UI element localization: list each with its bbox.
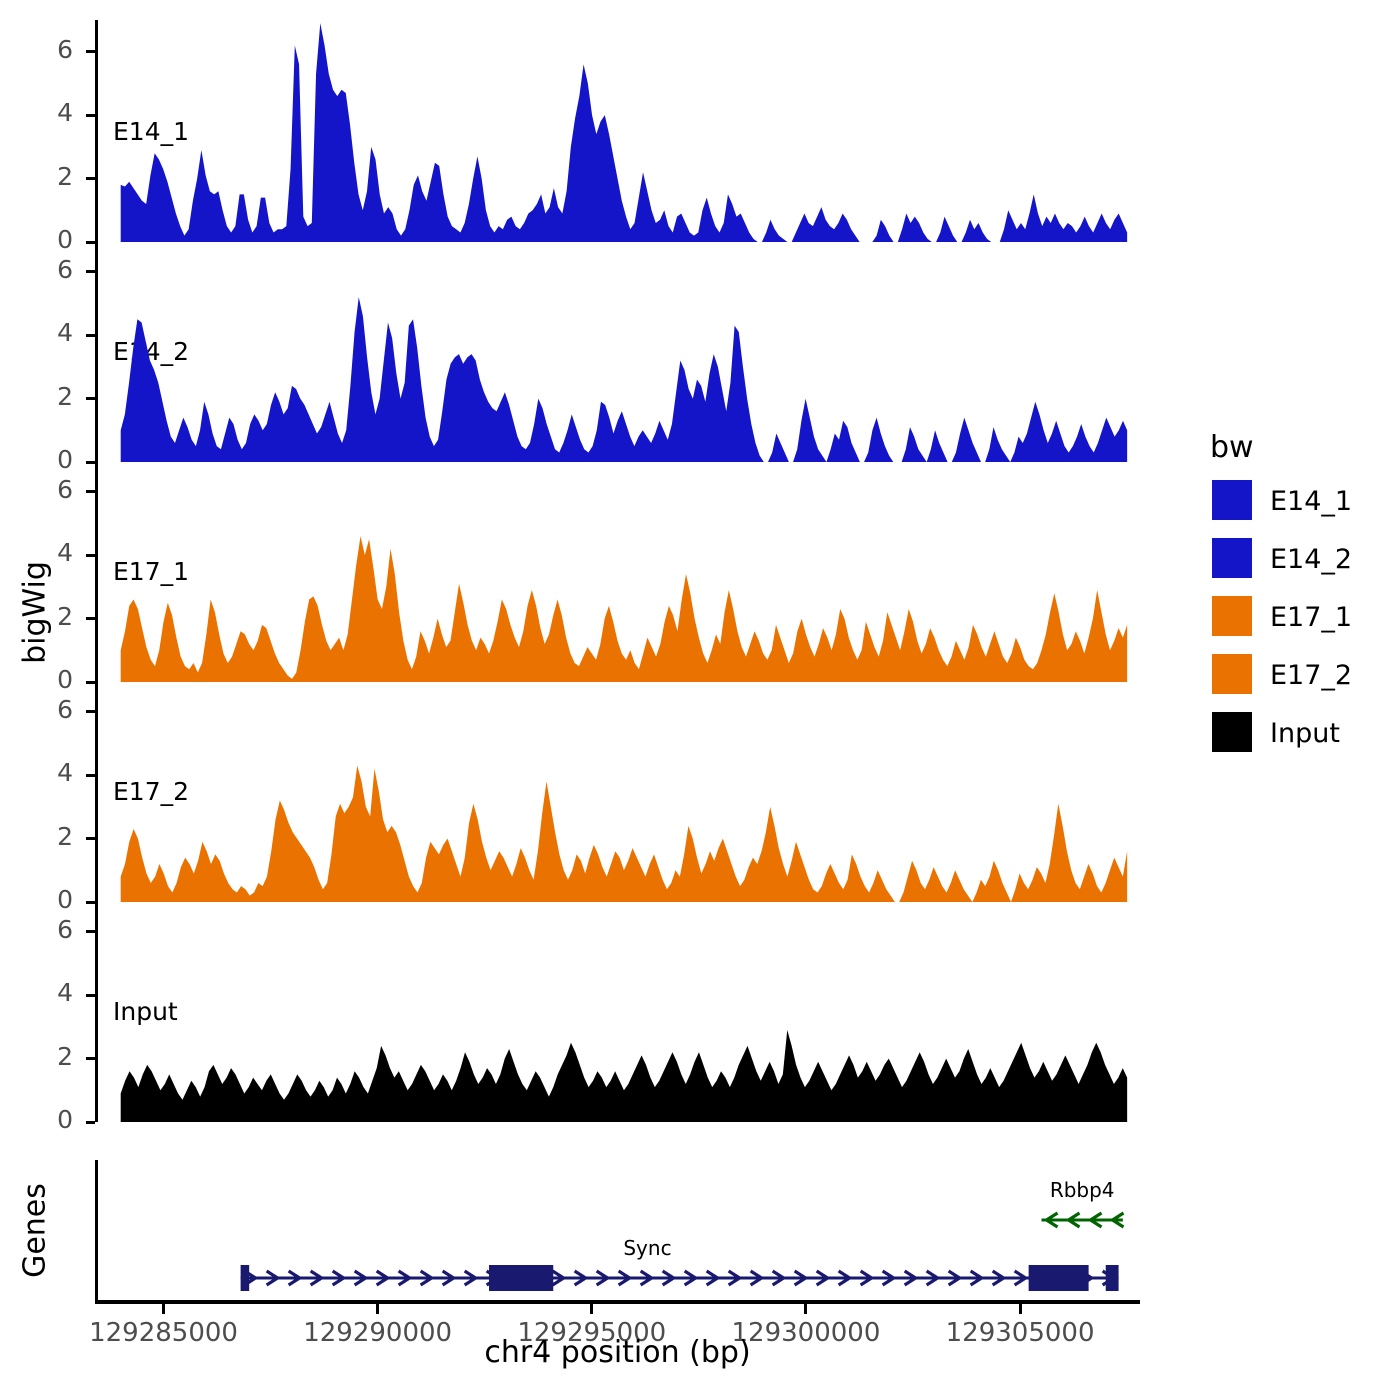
legend-label-input: Input	[1270, 718, 1340, 749]
y-tick-label: 6	[23, 915, 73, 944]
y-tick	[86, 241, 95, 244]
legend-label-e14_1: E14_1	[1270, 486, 1352, 517]
y-tick	[86, 710, 95, 713]
y-tick-label: 4	[23, 98, 73, 127]
y-tick	[86, 334, 95, 337]
y-tick	[86, 930, 95, 933]
y-tick	[86, 774, 95, 777]
x-tick	[162, 1304, 165, 1314]
legend-swatch-e17_2[interactable]	[1212, 654, 1252, 694]
y-tick-label: 0	[23, 1105, 73, 1134]
legend-label-e17_2: E17_2	[1270, 660, 1352, 691]
y-tick-label: 4	[23, 978, 73, 1007]
track-panel-e17_1: 0246E17_1	[95, 460, 1140, 682]
legend-label-e17_1: E17_1	[1270, 602, 1352, 633]
gene-label-rbbp4: Rbbp4	[1042, 1178, 1122, 1202]
y-tick-label: 6	[23, 35, 73, 64]
y-tick	[86, 114, 95, 117]
y-tick	[86, 617, 95, 620]
gene-model-rbbp4[interactable]	[95, 1160, 1140, 1300]
x-tick	[804, 1304, 807, 1314]
genome-browser-figure: bigWig Genes 0246E14_10246E14_20246E17_1…	[0, 0, 1400, 1400]
genes-panel: SyncRbbp4	[95, 1160, 1140, 1300]
y-tick	[86, 397, 95, 400]
y-tick-label: 2	[23, 602, 73, 631]
track-panel-input: 0246Input	[95, 900, 1140, 1122]
y-tick	[86, 681, 95, 684]
x-axis-title: chr4 position (bp)	[95, 1335, 1140, 1370]
y-tick	[86, 490, 95, 493]
y-tick	[86, 554, 95, 557]
legend-swatch-e14_1[interactable]	[1212, 480, 1252, 520]
y-tick-label: 0	[23, 445, 73, 474]
wiggle-area-e17_1	[95, 460, 1140, 682]
x-axis-line	[95, 1300, 1140, 1304]
x-tick	[1019, 1304, 1022, 1314]
wiggle-area-e14_2	[95, 240, 1140, 462]
legend-swatch-input[interactable]	[1212, 712, 1252, 752]
genes-axis-title: Genes	[18, 1171, 53, 1291]
wiggle-area-e14_1	[95, 20, 1140, 242]
legend-label-e14_2: E14_2	[1270, 544, 1352, 575]
y-tick-label: 4	[23, 538, 73, 567]
x-tick	[376, 1304, 379, 1314]
y-tick-label: 2	[23, 1042, 73, 1071]
y-tick	[86, 994, 95, 997]
y-tick-label: 4	[23, 318, 73, 347]
y-tick-label: 6	[23, 475, 73, 504]
legend: bw E14_1E14_2E17_1E17_2Input	[1210, 430, 1400, 690]
x-tick	[590, 1304, 593, 1314]
y-tick	[86, 50, 95, 53]
track-panel-e17_2: 0246E17_2	[95, 680, 1140, 902]
y-tick	[86, 1121, 95, 1124]
y-tick-label: 6	[23, 695, 73, 724]
wiggle-area-input	[95, 900, 1140, 1122]
track-panel-e14_1: 0246E14_1	[95, 20, 1140, 242]
y-tick	[86, 901, 95, 904]
legend-title: bw	[1210, 430, 1254, 465]
y-tick-label: 0	[23, 885, 73, 914]
y-tick-label: 4	[23, 758, 73, 787]
y-tick	[86, 461, 95, 464]
legend-swatch-e14_2[interactable]	[1212, 538, 1252, 578]
y-tick	[86, 1057, 95, 1060]
track-panel-e14_2: 0246E14_2	[95, 240, 1140, 462]
y-tick-label: 0	[23, 225, 73, 254]
y-tick	[86, 837, 95, 840]
y-tick-label: 0	[23, 665, 73, 694]
legend-swatch-e17_1[interactable]	[1212, 596, 1252, 636]
y-tick-label: 2	[23, 822, 73, 851]
wiggle-area-e17_2	[95, 680, 1140, 902]
y-tick	[86, 270, 95, 273]
y-tick	[86, 177, 95, 180]
y-tick-label: 6	[23, 255, 73, 284]
y-tick-label: 2	[23, 162, 73, 191]
y-tick-label: 2	[23, 382, 73, 411]
